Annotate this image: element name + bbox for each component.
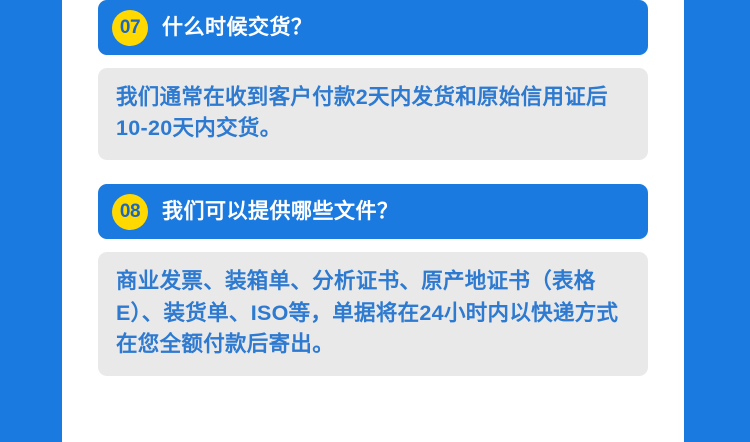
spacer-question-answer-08 xyxy=(98,239,648,252)
faq-answer-card-08: 商业发票、装箱单、分析证书、原产地证书（表格E）、装货单、ISO等，单据将在24… xyxy=(98,252,648,376)
spacer-question-answer-07 xyxy=(98,55,648,68)
left-blue-band xyxy=(0,0,62,442)
right-blue-band xyxy=(684,0,750,442)
faq-item-07: 07 什么时候交货？ 我们通常在收到客户付款2天内发货和原始信用证后10-20天… xyxy=(98,0,648,160)
faq-content-panel: 07 什么时候交货？ 我们通常在收到客户付款2天内发货和原始信用证后10-20天… xyxy=(62,0,684,442)
faq-answer-card-07: 我们通常在收到客户付款2天内发货和原始信用证后10-20天内交货。 xyxy=(98,68,648,160)
spacer-between-faq-items xyxy=(98,160,648,184)
faq-question-text-08: 我们可以提供哪些文件？ xyxy=(162,200,399,223)
faq-number-badge-08: 08 xyxy=(112,194,148,230)
faq-list: 07 什么时候交货？ 我们通常在收到客户付款2天内发货和原始信用证后10-20天… xyxy=(98,0,648,376)
faq-page: 07 什么时候交货？ 我们通常在收到客户付款2天内发货和原始信用证后10-20天… xyxy=(0,0,750,442)
faq-question-card-07[interactable]: 07 什么时候交货？ xyxy=(98,0,648,55)
faq-item-08: 08 我们可以提供哪些文件？ 商业发票、装箱单、分析证书、原产地证书（表格E）、… xyxy=(98,184,648,376)
faq-number-badge-07: 07 xyxy=(112,10,148,46)
faq-question-text-07: 什么时候交货？ xyxy=(162,16,313,39)
faq-question-card-08[interactable]: 08 我们可以提供哪些文件？ xyxy=(98,184,648,239)
